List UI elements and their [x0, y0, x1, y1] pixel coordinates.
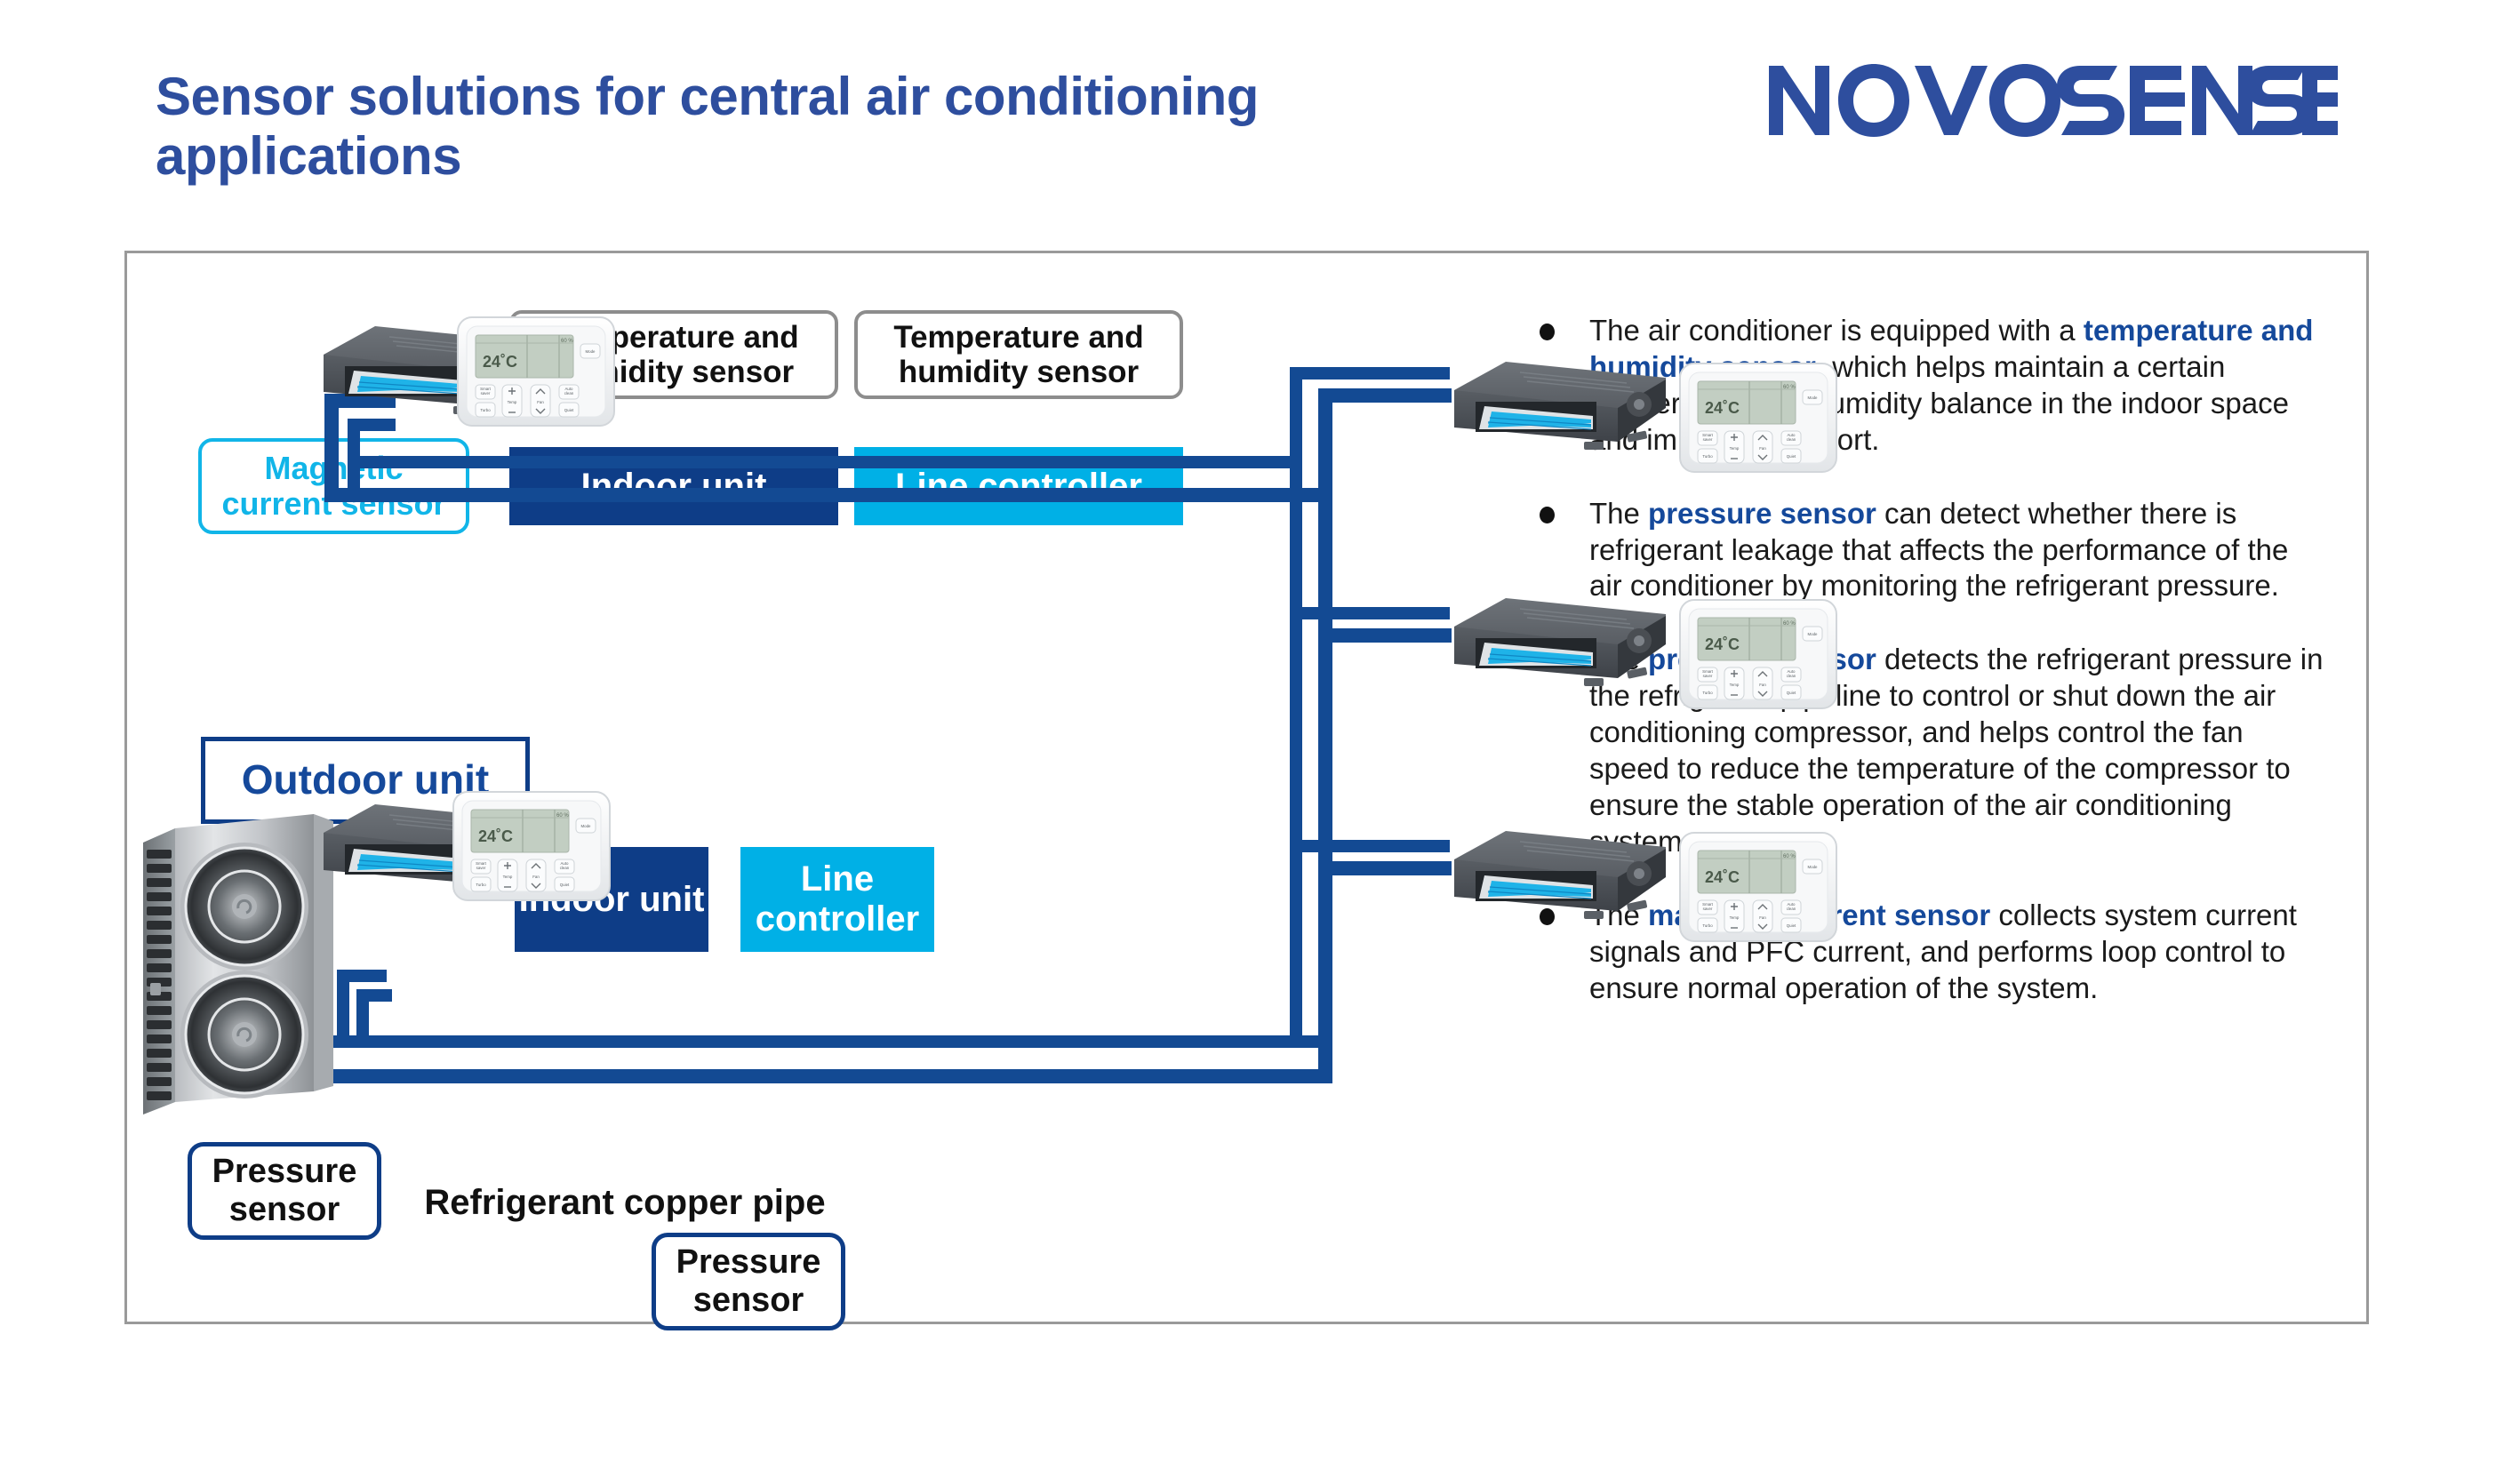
- svg-text:Fan: Fan: [1759, 446, 1766, 451]
- line-controller-device[interactable]: 24˚C 60 % ModeSmartsaver TurboTempFan Au…: [1678, 596, 1838, 716]
- note-item: The pressure sensor can detect whether t…: [1529, 496, 2329, 605]
- pipe-segment: [1318, 388, 1452, 403]
- svg-text:Turbo: Turbo: [480, 408, 491, 412]
- novosense-logo: [1769, 62, 2338, 139]
- svg-text:24˚C: 24˚C: [478, 827, 513, 845]
- svg-text:Fan: Fan: [1759, 683, 1766, 687]
- svg-text:Fan: Fan: [537, 400, 544, 404]
- svg-text:clean: clean: [1787, 674, 1796, 678]
- svg-text:saver: saver: [476, 866, 486, 870]
- svg-text:Temp: Temp: [508, 400, 517, 404]
- svg-text:saver: saver: [1703, 907, 1713, 911]
- svg-text:24˚C: 24˚C: [1705, 868, 1740, 886]
- indoor-unit-device: [1449, 822, 1671, 924]
- svg-text:Temp: Temp: [1730, 915, 1740, 920]
- svg-text:saver: saver: [481, 391, 491, 395]
- outdoor-unit-device: [136, 809, 340, 1120]
- label-temperature-humidity-sensor-2: Temperature and humidity sensor: [854, 310, 1183, 399]
- svg-text:60 %: 60 %: [1783, 854, 1796, 859]
- pipe-riser-right-b: [1318, 388, 1332, 1083]
- label-refrigerant-copper-pipe: Refrigerant copper pipe: [394, 1179, 856, 1226]
- svg-text:Temp: Temp: [1730, 683, 1740, 687]
- svg-text:saver: saver: [1703, 674, 1713, 678]
- pipe-segment: [1290, 840, 1450, 852]
- svg-text:clean: clean: [1787, 907, 1796, 911]
- indoor-unit-device: [1449, 353, 1671, 455]
- bullet-dot-icon: [1540, 324, 1555, 340]
- pipe-trunk-upper: [287, 1035, 1318, 1048]
- line-controller-device[interactable]: 24˚C 60 % ModeSmartsaver TurboTempFan Au…: [452, 788, 612, 908]
- svg-text:Quiet: Quiet: [564, 408, 574, 412]
- svg-text:clean: clean: [564, 391, 574, 395]
- pipe-segment: [1318, 628, 1452, 643]
- slide-root: Sensor solutions for central air conditi…: [0, 0, 2520, 1470]
- pipe-trunk-lower: [198, 1069, 1318, 1083]
- thermostat-temperature-readout: 24˚C: [483, 353, 517, 371]
- pipe-segment: [1290, 367, 1450, 379]
- label-line-controller-mid: Line controller: [740, 847, 934, 952]
- pipe-segment: [324, 488, 1320, 502]
- svg-text:Temp: Temp: [503, 875, 513, 879]
- svg-text:Quiet: Quiet: [1787, 923, 1796, 928]
- svg-text:Mode: Mode: [586, 349, 596, 354]
- svg-text:Turbo: Turbo: [1702, 691, 1713, 695]
- pipe-riser-right-a: [1290, 367, 1302, 1043]
- label-pressure-sensor-left: Pressure sensor: [188, 1142, 381, 1240]
- svg-text:clean: clean: [560, 866, 570, 870]
- svg-text:Fan: Fan: [1759, 915, 1766, 920]
- svg-text:Mode: Mode: [1808, 395, 1819, 400]
- label-pressure-sensor-bottom: Pressure sensor: [652, 1233, 845, 1330]
- svg-text:Fan: Fan: [532, 875, 540, 879]
- svg-text:Turbo: Turbo: [476, 883, 486, 887]
- thermostat-humidity-readout: 60 %: [561, 339, 573, 344]
- svg-text:Mode: Mode: [1808, 865, 1819, 869]
- indoor-unit-device: [1449, 589, 1671, 691]
- line-controller-device[interactable]: 24˚C 60 % Mode Smartsaver Turbo Temp F: [456, 314, 616, 434]
- line-controller-device[interactable]: 24˚C 60 % ModeSmartsaver TurboTempFan Au…: [1678, 829, 1838, 949]
- svg-text:24˚C: 24˚C: [1705, 635, 1740, 653]
- pipe-segment: [348, 419, 396, 431]
- svg-text:clean: clean: [1787, 437, 1796, 442]
- svg-text:Temp: Temp: [1730, 446, 1740, 451]
- pipe-segment: [348, 456, 1290, 468]
- pipe-segment: [337, 970, 387, 982]
- svg-text:Mode: Mode: [581, 824, 592, 828]
- pipe-segment: [1290, 607, 1450, 619]
- svg-text:Mode: Mode: [1808, 632, 1819, 636]
- svg-text:60 %: 60 %: [556, 813, 569, 819]
- svg-text:60 %: 60 %: [1783, 385, 1796, 390]
- svg-text:60 %: 60 %: [1783, 621, 1796, 627]
- svg-text:24˚C: 24˚C: [1705, 399, 1740, 417]
- note-text: The pressure sensor can detect whether t…: [1589, 497, 2288, 603]
- svg-text:Turbo: Turbo: [1702, 923, 1713, 928]
- pipe-segment: [1318, 861, 1452, 875]
- svg-text:Quiet: Quiet: [1787, 454, 1796, 459]
- line-controller-device[interactable]: 24˚C 60 % ModeSmartsaver TurboTempFan Au…: [1678, 360, 1838, 480]
- svg-text:Quiet: Quiet: [560, 883, 570, 887]
- svg-text:Turbo: Turbo: [1702, 454, 1713, 459]
- page-title: Sensor solutions for central air conditi…: [156, 67, 1542, 186]
- bullet-dot-icon: [1540, 507, 1555, 523]
- pipe-segment: [356, 989, 392, 1002]
- svg-text:Quiet: Quiet: [1787, 691, 1796, 695]
- svg-text:saver: saver: [1703, 437, 1713, 442]
